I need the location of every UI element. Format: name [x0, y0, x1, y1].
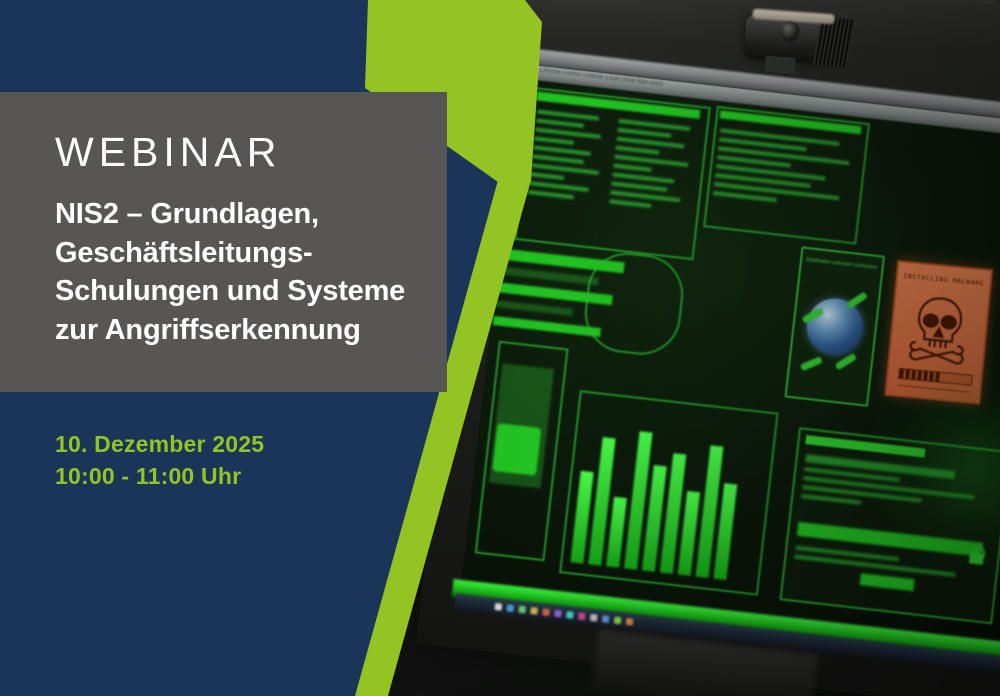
event-schedule: 10. Dezember 2025 10:00 - 11:00 Uhr	[55, 428, 264, 492]
event-date: 10. Dezember 2025	[55, 428, 264, 460]
headline-line: NIS2 – Grundlagen,	[55, 195, 455, 234]
taskbar-icon	[554, 609, 562, 617]
taskbar-icon	[602, 615, 610, 623]
skull-icon	[906, 290, 973, 367]
bar-chart	[570, 413, 743, 580]
event-time: 10:00 - 11:00 Uhr	[55, 460, 264, 492]
globe-panel-title: Destination unknown connection	[802, 257, 882, 273]
webcam	[743, 4, 857, 74]
data-panel-rows	[712, 128, 857, 215]
webcam-grill	[813, 17, 855, 67]
mid-panel	[581, 249, 688, 359]
webcam-mount-clip	[765, 56, 796, 74]
headline-line: zur Angriffserkennung	[55, 311, 455, 350]
missile-icon-4	[800, 356, 823, 371]
left-tall-panel-blob	[492, 423, 541, 476]
taskbar-icon	[506, 604, 514, 612]
eyebrow-label: WEBINAR	[55, 132, 455, 173]
malware-alert-title: INSTALLING MALWARE	[898, 271, 990, 288]
taskbar-icon	[614, 616, 622, 624]
sidebar-stripe-4	[495, 300, 573, 316]
sidebar-stripe-2	[499, 266, 599, 285]
taskbar-icon	[518, 605, 526, 613]
taskbar-icon	[530, 607, 538, 615]
headline-block: WEBINAR NIS2 – Grundlagen, Geschäftsleit…	[55, 132, 455, 349]
taskbar-icon	[542, 608, 550, 616]
missile-icon-3	[835, 353, 857, 370]
code-column-left	[527, 110, 607, 207]
code-column-right	[609, 119, 697, 217]
headline-line: Geschäftsleitungs-	[55, 234, 455, 273]
taskbar-icon	[578, 612, 586, 620]
page-title: NIS2 – Grundlagen, Geschäftsleitungs- Sc…	[55, 195, 455, 349]
monitor-screen: Chrome Firefox Outlook Excel Drive Mail …	[462, 63, 1000, 646]
headline-line: Schulungen und Systeme	[55, 272, 455, 311]
taskbar-icon	[495, 602, 503, 610]
globe-panel: Destination unknown connection	[784, 246, 885, 407]
chart-bar	[606, 497, 627, 568]
missile-icon-2	[846, 291, 868, 309]
webinar-banner: Chrome Firefox Outlook Excel Drive Mail …	[0, 0, 1000, 696]
taskbar-icon	[590, 613, 598, 621]
taskbar-icon	[566, 611, 574, 619]
taskbar-icon	[626, 617, 634, 625]
